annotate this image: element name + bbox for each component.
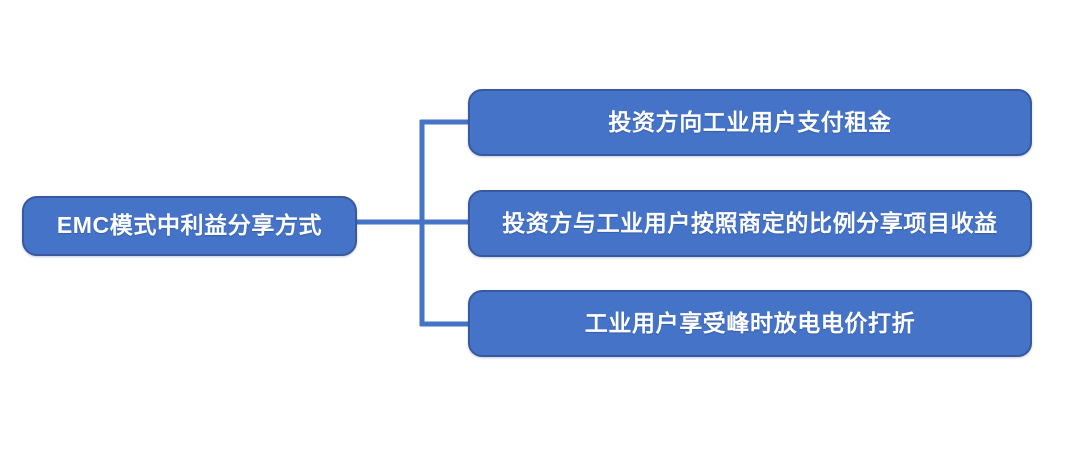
node-branch-label: 投资方与工业用户按照商定的比例分享项目收益 xyxy=(502,211,998,236)
diagram-canvas: EMC模式中利益分享方式 投资方向工业用户支付租金 投资方与工业用户按照商定的比… xyxy=(0,0,1080,456)
node-branch-peak-discharge-discount[interactable]: 工业用户享受峰时放电电价打折 xyxy=(468,290,1032,357)
node-branch-investor-pays-rent[interactable]: 投资方向工业用户支付租金 xyxy=(468,89,1032,156)
node-root-label: EMC模式中利益分享方式 xyxy=(57,213,322,238)
node-branch-label: 投资方向工业用户支付租金 xyxy=(608,110,891,135)
node-root[interactable]: EMC模式中利益分享方式 xyxy=(22,196,357,256)
node-branch-share-project-revenue[interactable]: 投资方与工业用户按照商定的比例分享项目收益 xyxy=(468,190,1032,257)
node-branch-label: 工业用户享受峰时放电电价打折 xyxy=(585,311,915,336)
